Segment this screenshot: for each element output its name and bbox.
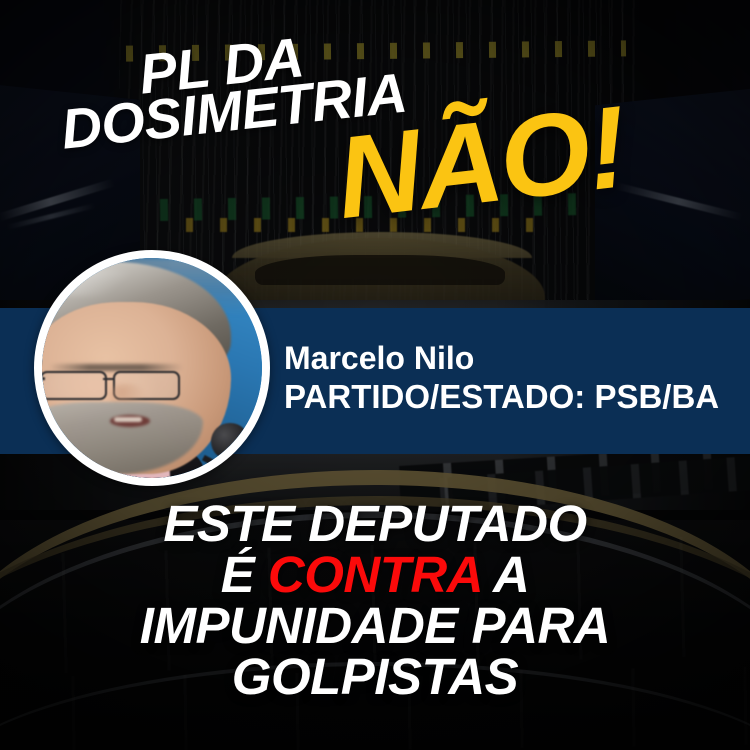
- background-podium-shadow: [255, 255, 505, 285]
- deputy-party-state: PARTIDO/ESTADO: PSB/BA: [284, 377, 719, 417]
- avatar-hair-highlight: [42, 269, 158, 296]
- campaign-poster: PL DA DOSIMETRIA NÃO! Marcelo Nilo PARTI…: [0, 0, 750, 750]
- avatar-beard: [42, 402, 203, 474]
- background-seat-dividers: [0, 534, 750, 676]
- background-yellow-accents-lower: [186, 218, 546, 232]
- avatar-teeth: [114, 417, 142, 422]
- avatar-microphone: [211, 423, 248, 460]
- deputy-avatar: [34, 250, 270, 486]
- avatar-glasses-left-lens: [42, 371, 107, 401]
- avatar-face: [42, 302, 231, 474]
- avatar-glasses-bridge: [103, 378, 115, 381]
- deputy-avatar-photo: [42, 258, 262, 478]
- avatar-brow: [49, 364, 183, 371]
- deputy-name: Marcelo Nilo: [284, 339, 719, 377]
- deputy-name-banner-text: Marcelo Nilo PARTIDO/ESTADO: PSB/BA: [284, 339, 719, 417]
